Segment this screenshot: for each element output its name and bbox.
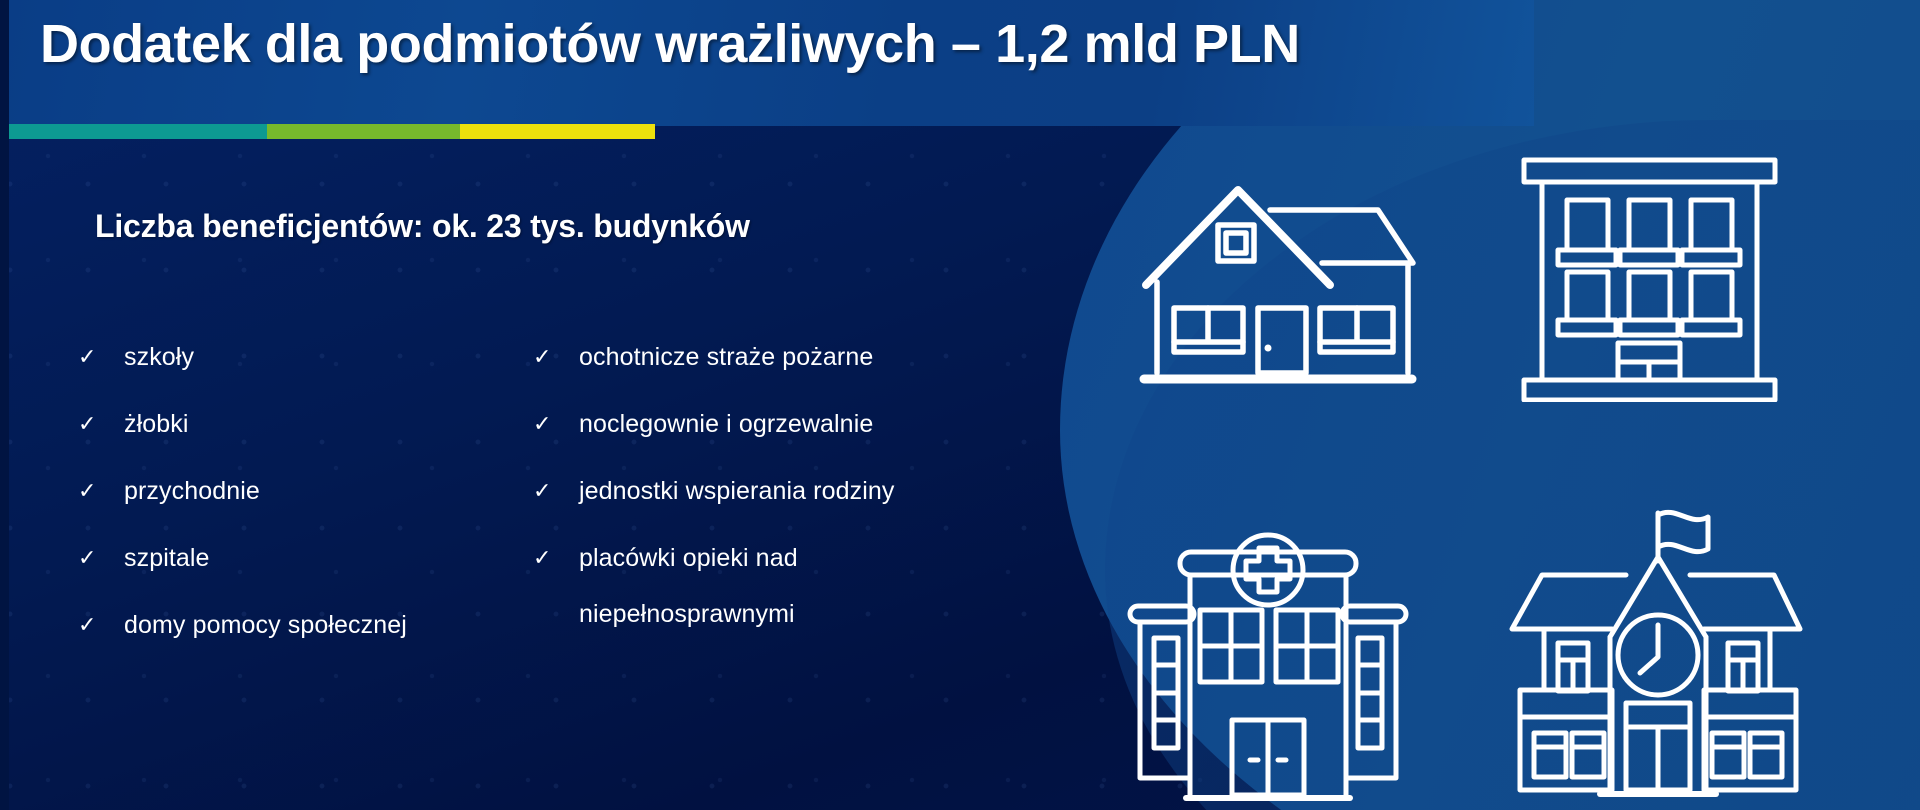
check-icon: ✓: [533, 541, 579, 575]
list-item-label: żłobki: [124, 407, 189, 441]
list-item-label: ochotnicze straże pożarne: [579, 340, 873, 374]
check-icon: ✓: [533, 340, 579, 374]
list-item-label: domy pomocy społecznej: [124, 608, 407, 642]
subtitle-beneficiaries-count: Liczba beneficjentów: ok. 23 tys. budynk…: [95, 208, 750, 245]
list-item: ✓ domy pomocy społecznej: [78, 608, 478, 642]
list-item: ✓ placówki opieki nad niepełnosprawnymi: [533, 541, 953, 631]
school-icon: [1500, 505, 1810, 805]
list-item-label-line2: niepełnosprawnymi: [579, 597, 798, 631]
check-icon: ✓: [78, 608, 124, 642]
accent-rule-segment-yellow: [460, 124, 655, 139]
left-edge-strip: [0, 0, 9, 810]
list-item: ✓ żłobki: [78, 407, 478, 441]
apartment-block-icon: [1512, 140, 1787, 402]
page-title: Dodatek dla podmiotów wrażliwych – 1,2 m…: [40, 4, 1510, 84]
check-icon: ✓: [78, 407, 124, 441]
list-item-label: przychodnie: [124, 474, 260, 508]
list-item-label-line1: placówki opieki nad: [579, 544, 798, 572]
check-icon: ✓: [78, 541, 124, 575]
hospital-icon: [1118, 530, 1418, 805]
list-item: ✓ szkoły: [78, 340, 478, 374]
accent-rule: [9, 124, 655, 139]
check-icon: ✓: [78, 474, 124, 508]
check-icon: ✓: [78, 340, 124, 374]
beneficiary-list-column-2: ✓ ochotnicze straże pożarne ✓ noclegowni…: [533, 340, 953, 664]
list-item: ✓ noclegownie i ogrzewalnie: [533, 407, 953, 441]
list-item-label: noclegownie i ogrzewalnie: [579, 407, 873, 441]
accent-rule-segment-teal: [9, 124, 267, 139]
list-item-label: jednostki wspierania rodziny: [579, 474, 894, 508]
list-item: ✓ szpitale: [78, 541, 478, 575]
slide-canvas: Dodatek dla podmiotów wrażliwych – 1,2 m…: [0, 0, 1920, 810]
check-icon: ✓: [533, 474, 579, 508]
list-item: ✓ ochotnicze straże pożarne: [533, 340, 953, 374]
accent-rule-segment-green: [267, 124, 460, 139]
list-item: ✓ jednostki wspierania rodziny: [533, 474, 953, 508]
check-icon: ✓: [533, 407, 579, 441]
list-item-label: szpitale: [124, 541, 210, 575]
list-item-label: szkoły: [124, 340, 194, 374]
list-item: ✓ przychodnie: [78, 474, 478, 508]
list-item-label: placówki opieki nad niepełnosprawnymi: [579, 541, 798, 631]
house-icon: [1130, 170, 1420, 400]
beneficiary-list-column-1: ✓ szkoły ✓ żłobki ✓ przychodnie ✓ szpita…: [78, 340, 478, 675]
